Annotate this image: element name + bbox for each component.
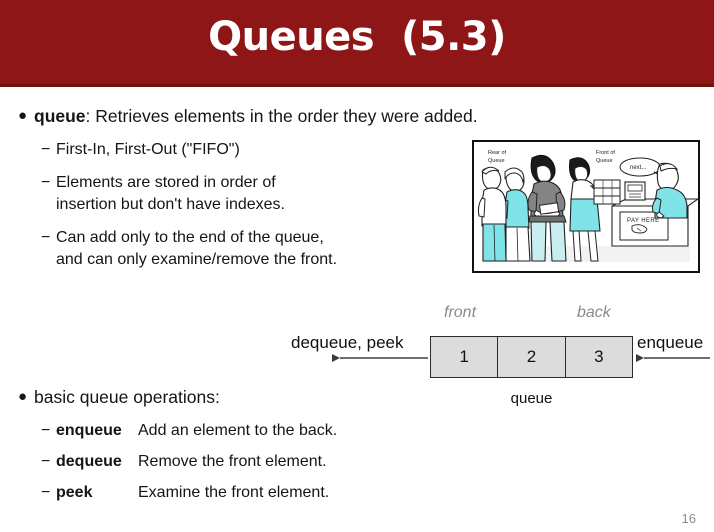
sub-bullet-addend: −Can add only to the end of the queue, xyxy=(56,227,324,249)
diagram-back-label: back xyxy=(577,304,611,322)
dequeue-peek-arrow-label: dequeue, peek xyxy=(291,333,404,353)
bullet-basic-operations: ●basic queue operations: xyxy=(34,387,220,408)
sub-bullet-fifo-text: First-In, First-Out ("FIFO") xyxy=(56,141,240,158)
sub-bullet-order-text: Elements are stored in order of xyxy=(56,174,276,191)
term-queue-rest: : Retrieves elements in the order they w… xyxy=(86,106,478,126)
dash-icon: − xyxy=(41,482,50,504)
cartoon-sign-text: PAY HERE xyxy=(627,218,660,224)
sub-bullet-addend-text-line2: and can only examine/remove the front. xyxy=(56,249,337,271)
sub-bullet-fifo: −First-In, First-Out ("FIFO") xyxy=(56,139,240,161)
queue-cell-2: 2 xyxy=(498,337,565,377)
term-queue: queue xyxy=(34,106,86,126)
enqueue-arrow-label: enqueue xyxy=(637,333,703,353)
queue-caption: queue xyxy=(430,390,633,407)
queue-cell-3: 3 xyxy=(566,337,632,377)
cartoon-speech-text: next... xyxy=(630,165,647,171)
operation-enqueue-description: Add an element to the back. xyxy=(138,420,337,442)
operation-dequeue-description: Remove the front element. xyxy=(138,451,327,473)
cartoon-rear-label-line2: Queue xyxy=(488,158,505,164)
operation-enqueue: −enqueueAdd an element to the back. xyxy=(56,420,337,442)
dash-icon: − xyxy=(41,451,50,473)
operation-dequeue: −dequeueRemove the front element. xyxy=(56,451,327,473)
dash-icon: − xyxy=(41,420,50,442)
sub-bullet-addend-text: Can add only to the end of the queue, xyxy=(56,229,324,246)
queue-box-row: 1 2 3 xyxy=(430,336,633,378)
cartoon-front-label-line2: Queue xyxy=(596,158,613,164)
enqueue-arrow-line xyxy=(644,357,710,359)
queue-cartoon-illustration: Rear of Queue Front of Queue PAY HERE ne… xyxy=(472,140,700,273)
page-title: Queues (5.3) xyxy=(0,14,714,60)
page-number: 16 xyxy=(682,511,696,526)
operation-enqueue-name: enqueue xyxy=(56,420,138,442)
dequeue-arrow-head-icon xyxy=(332,354,340,362)
dash-icon: − xyxy=(41,139,50,161)
diagram-front-label: front xyxy=(444,304,476,322)
dequeue-arrow-line xyxy=(340,357,428,359)
cartoon-svg: Rear of Queue Front of Queue PAY HERE ne… xyxy=(474,142,698,271)
sub-bullet-order-text-line2: insertion but don't have indexes. xyxy=(56,194,285,216)
dash-icon: − xyxy=(41,172,50,194)
bullet-dot-icon: ● xyxy=(18,386,27,407)
sub-bullet-order: −Elements are stored in order of xyxy=(56,172,276,194)
cartoon-rear-label-line1: Rear of xyxy=(488,150,507,156)
operation-peek: −peekExamine the front element. xyxy=(56,482,329,504)
bullet-basic-operations-text: basic queue operations: xyxy=(34,387,220,407)
slide-canvas: Queues (5.3) ●queue: Retrieves elements … xyxy=(0,0,714,532)
operation-peek-name: peek xyxy=(56,482,138,504)
bullet-dot-icon: ● xyxy=(18,105,27,126)
queue-cell-1: 1 xyxy=(431,337,498,377)
operation-peek-description: Examine the front element. xyxy=(138,482,329,504)
dash-icon: − xyxy=(41,227,50,249)
cartoon-front-label-line1: Front of xyxy=(596,150,615,156)
operation-dequeue-name: dequeue xyxy=(56,451,138,473)
enqueue-arrow-head-icon xyxy=(636,354,644,362)
bullet-queue-definition: ●queue: Retrieves elements in the order … xyxy=(34,106,478,127)
